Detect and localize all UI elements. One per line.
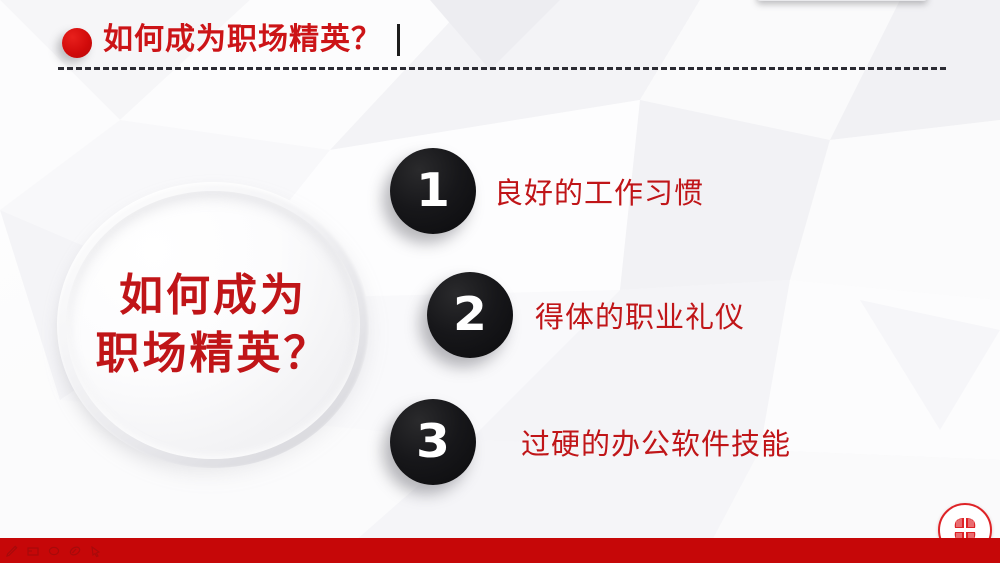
shape-icon[interactable]: [46, 543, 62, 559]
number-badge-label: 3: [387, 399, 478, 485]
list-item-label[interactable]: 良好的工作习惯: [494, 170, 704, 212]
number-badge-label: 1: [387, 148, 478, 234]
eraser-icon[interactable]: [67, 543, 83, 559]
page-title[interactable]: 如何成为职场精英？: [103, 18, 382, 62]
laser-pointer-icon[interactable]: [88, 543, 104, 559]
presentation-slide: 如何成为职场精英？ 如何成为 职场精英？ 1 良好的工作习惯 2 得体的职业礼仪…: [0, 0, 1000, 563]
number-badge: 2: [427, 272, 513, 358]
pen-icon[interactable]: [4, 543, 20, 559]
text-caret: [397, 24, 400, 56]
number-badge-label: 2: [424, 272, 515, 358]
bottom-accent-bar: [0, 538, 1000, 563]
list-item[interactable]: 1 良好的工作习惯: [390, 148, 704, 234]
list-item[interactable]: 3 过硬的办公软件技能: [390, 399, 791, 485]
annotation-toolbar[interactable]: [4, 543, 104, 559]
red-dot-icon: [62, 28, 92, 58]
number-badge: 3: [390, 399, 476, 485]
slide-header: 如何成为职场精英？: [0, 0, 1000, 82]
hero-line-1: 如何成为: [119, 267, 307, 325]
highlighter-icon[interactable]: [25, 543, 41, 559]
list-item-label[interactable]: 得体的职业礼仪: [535, 294, 745, 336]
list-item-label[interactable]: 过硬的办公软件技能: [521, 421, 791, 463]
header-divider: [58, 67, 946, 70]
number-badge: 1: [390, 148, 476, 234]
hero-circle[interactable]: 如何成为 职场精英？: [57, 182, 377, 478]
hero-circle-face: 如何成为 职场精英？: [66, 191, 360, 459]
list-item[interactable]: 2 得体的职业礼仪: [427, 272, 745, 358]
hero-line-2: 职场精英？: [96, 325, 331, 383]
